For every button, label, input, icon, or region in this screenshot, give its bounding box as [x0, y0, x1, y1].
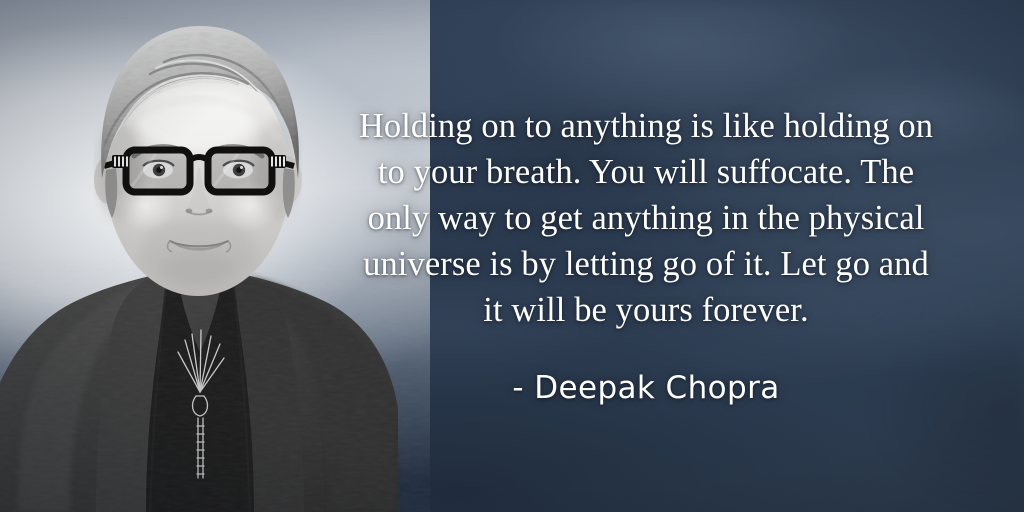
- quote-line-2: to your breath. You will suffocate. The: [296, 149, 996, 195]
- quote-text-block: Holding on to anything is like holding o…: [296, 103, 996, 333]
- quote-line-3: only way to get anything in the physical: [296, 195, 996, 241]
- quote-line-5: it will be yours forever.: [296, 287, 996, 333]
- quote-line-1: Holding on to anything is like holding o…: [296, 103, 996, 149]
- quote-attribution: - Deepak Chopra: [296, 368, 996, 408]
- quote-image-canvas: Holding on to anything is like holding o…: [0, 0, 1024, 512]
- quote-line-4: universe is by letting go of it. Let go …: [296, 241, 996, 287]
